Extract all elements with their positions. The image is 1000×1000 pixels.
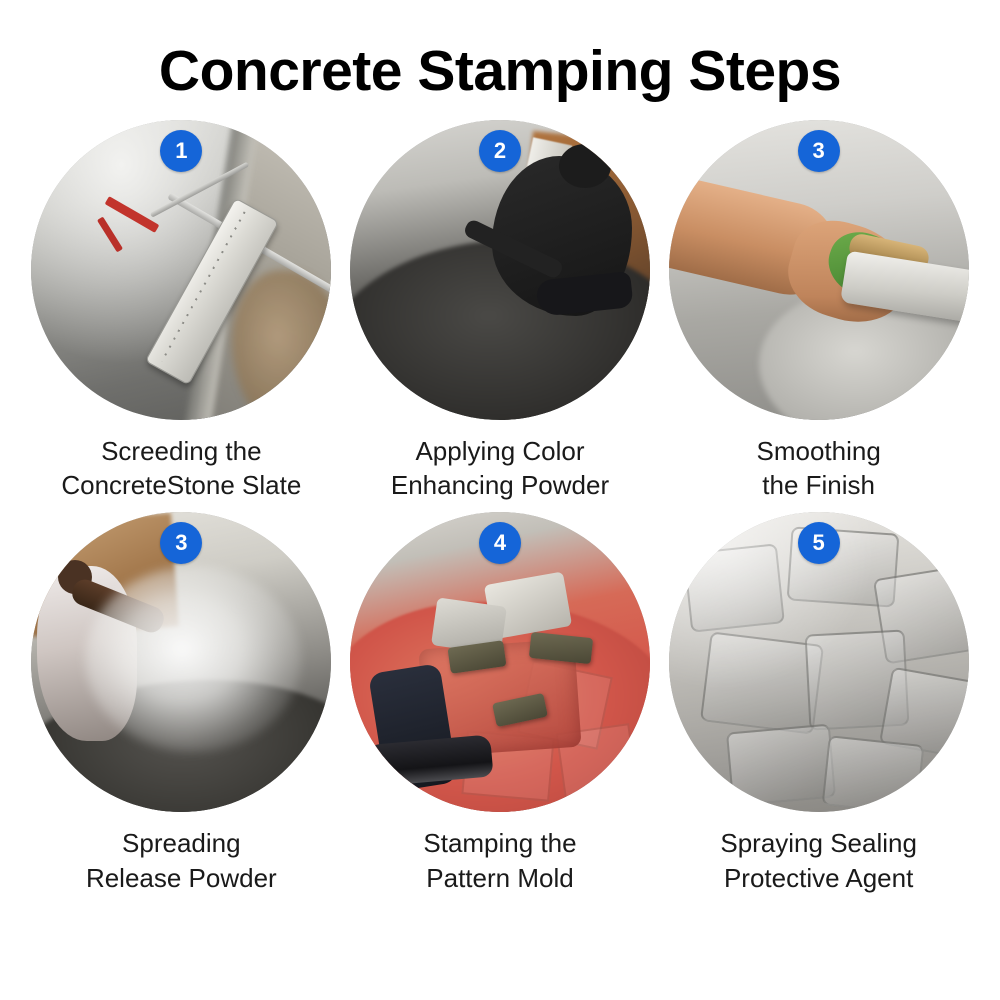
step-card-4: 3 Spreading Release Powder	[22, 512, 341, 895]
step-badge-3: 3	[798, 130, 840, 172]
step-caption-line: Protective Agent	[720, 861, 917, 895]
step-caption-line: Applying Color	[391, 434, 609, 468]
step-badge-6: 5	[798, 522, 840, 564]
step-card-2: 2 Applying Color Enhancing Powder	[341, 120, 660, 503]
soil-patch	[232, 270, 331, 420]
step-caption-3: Smoothing the Finish	[757, 434, 881, 503]
step-photo-wrap-4: 3	[31, 512, 331, 812]
step-photo-wrap-6: 5	[669, 512, 969, 812]
step-card-5: 4 Stamping the Pattern Mold	[341, 512, 660, 895]
release-powder-cloud	[85, 566, 301, 752]
step-photo-wrap-2: 2	[350, 120, 650, 420]
step-photo-wrap-1: 1	[31, 120, 331, 420]
step-caption-6: Spraying Sealing Protective Agent	[720, 826, 917, 895]
step-card-6: 5 Spraying Sealing Protective Agent	[659, 512, 978, 895]
step-badge-4: 3	[160, 522, 202, 564]
stone-cell	[821, 736, 924, 813]
step-badge-2: 2	[479, 130, 521, 172]
step-caption-line: Pattern Mold	[423, 861, 576, 895]
step-badge-5: 4	[479, 522, 521, 564]
stone-cell	[726, 724, 836, 807]
step-caption-2: Applying Color Enhancing Powder	[391, 434, 609, 503]
sealer-sheen	[669, 512, 879, 692]
step-photo-wrap-3: 3	[669, 120, 969, 420]
worker-head	[559, 144, 611, 188]
step-caption-line: Spraying Sealing	[720, 826, 917, 860]
page-title: Concrete Stamping Steps	[0, 0, 1000, 102]
step-caption-5: Stamping the Pattern Mold	[423, 826, 576, 895]
step-caption-line: Stamping the	[423, 826, 576, 860]
step-card-1: 1 Screeding the ConcreteStone Slate	[22, 120, 341, 503]
step-caption-line: Release Powder	[86, 861, 277, 895]
step-caption-line: Enhancing Powder	[391, 468, 609, 502]
step-caption-line: Spreading	[86, 826, 277, 860]
step-badge-1: 1	[160, 130, 202, 172]
steps-grid: 1 Screeding the ConcreteStone Slate 2 Ap…	[0, 120, 1000, 895]
step-caption-line: ConcreteStone Slate	[61, 468, 301, 502]
step-photo-wrap-5: 4	[350, 512, 650, 812]
step-caption-1: Screeding the ConcreteStone Slate	[61, 434, 301, 503]
step-caption-line: Screeding the	[61, 434, 301, 468]
step-caption-4: Spreading Release Powder	[86, 826, 277, 895]
step-caption-line: the Finish	[757, 468, 881, 502]
step-card-3: 3 Smoothing the Finish	[659, 120, 978, 503]
step-caption-line: Smoothing	[757, 434, 881, 468]
